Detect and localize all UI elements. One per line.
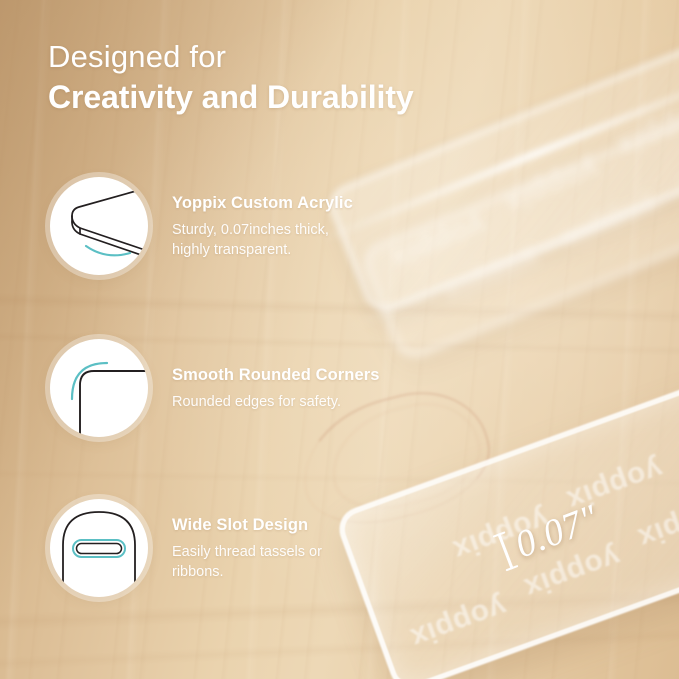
headline-line-1: Designed for bbox=[48, 38, 518, 76]
feature-text: Smooth Rounded Corners Rounded edges for… bbox=[172, 364, 380, 412]
feature-title: Wide Slot Design bbox=[172, 516, 322, 535]
feature-item-acrylic: Yoppix Custom Acrylic Sturdy, 0.07inches… bbox=[50, 177, 480, 275]
feature-description: Sturdy, 0.07inches thick, highly transpa… bbox=[172, 220, 353, 260]
feature-description: Easily thread tassels or ribbons. bbox=[172, 542, 322, 582]
feature-icon-badge bbox=[50, 499, 148, 597]
feature-text: Yoppix Custom Acrylic Sturdy, 0.07inches… bbox=[172, 192, 353, 260]
wide-slot-icon bbox=[50, 499, 148, 597]
headline-line-2: Creativity and Durability bbox=[48, 78, 518, 117]
feature-title: Yoppix Custom Acrylic bbox=[172, 194, 353, 213]
feature-title: Smooth Rounded Corners bbox=[172, 366, 380, 385]
feature-item-rounded-corners: Smooth Rounded Corners Rounded edges for… bbox=[50, 339, 480, 437]
feature-icon-badge bbox=[50, 339, 148, 437]
feature-text: Wide Slot Design Easily thread tassels o… bbox=[172, 514, 322, 582]
acrylic-sheet-icon bbox=[50, 177, 148, 275]
feature-icon-badge bbox=[50, 177, 148, 275]
rounded-corner-icon bbox=[50, 339, 148, 437]
page-headline: Designed for Creativity and Durability bbox=[48, 38, 518, 117]
product-feature-banner: yoppix yoppix yoppix yoppix yoppix yoppi… bbox=[0, 0, 679, 679]
feature-description: Rounded edges for safety. bbox=[172, 392, 380, 412]
feature-item-wide-slot: Wide Slot Design Easily thread tassels o… bbox=[50, 499, 480, 597]
